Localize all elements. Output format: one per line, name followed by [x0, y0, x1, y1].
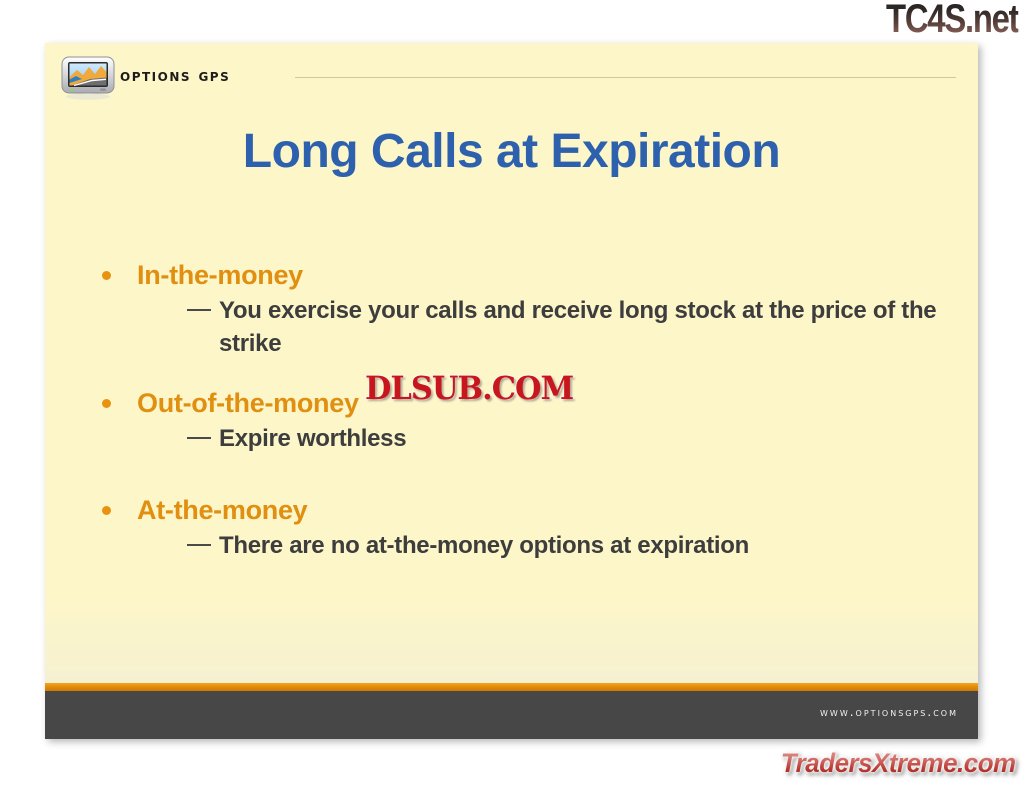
bullet-dot-icon [102, 506, 111, 515]
footer-orange-bar [45, 683, 978, 691]
tradersxtreme-watermark: TradersXtreme.com [781, 748, 1016, 778]
sub-bullet-label: There are no at-the-money options at exp… [219, 532, 749, 559]
bullet-dot-icon [102, 271, 111, 280]
bullet-item: In-the-money [95, 258, 958, 292]
sub-bullet-item: There are no at-the-money options at exp… [187, 529, 958, 562]
bullet-label: At-the-money [137, 495, 307, 525]
slide-header: Options GPS [45, 43, 978, 105]
bullet-dot-icon [102, 399, 111, 408]
slide-body: In-the-money You exercise your calls and… [95, 258, 958, 562]
footer-bar: www.OptionsGPS.com [45, 691, 978, 739]
em-dash-icon [187, 544, 211, 546]
logo-text: Options GPS [120, 66, 230, 86]
dlsub-watermark: DLSUB.COM [365, 371, 573, 405]
header-divider [295, 77, 956, 78]
page-title: Long Calls at Expiration [45, 124, 978, 180]
tc4s-watermark: TC4S.net [886, 0, 1018, 40]
bullet-label: In-the-money [137, 260, 303, 290]
spacer [95, 455, 958, 493]
footer-url: www.OptionsGPS.com [820, 705, 958, 719]
bullet-group-in-the-money: In-the-money You exercise your calls and… [95, 258, 958, 360]
bullet-item: At-the-money [95, 493, 958, 527]
sub-bullet-item: You exercise your calls and receive long… [187, 294, 958, 360]
sub-bullet-label: Expire worthless [219, 425, 406, 452]
sub-bullet-item: Expire worthless [187, 422, 958, 455]
em-dash-icon [187, 309, 211, 311]
bullet-group-at-the-money: At-the-money There are no at-the-money o… [95, 493, 958, 562]
sub-bullet-label: You exercise your calls and receive long… [219, 297, 936, 357]
bullet-label: Out-of-the-money [137, 388, 359, 418]
em-dash-icon [187, 437, 211, 439]
gps-device-icon [60, 53, 116, 101]
